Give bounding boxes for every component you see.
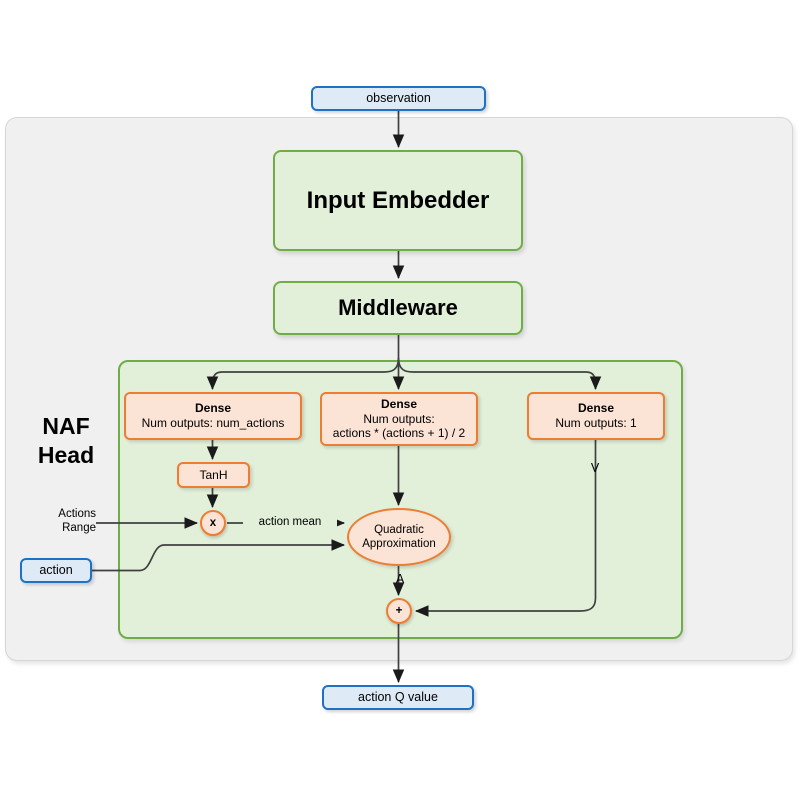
naf-head-title-line2: Head: [20, 441, 112, 470]
actions-range-label: Actions Range: [12, 507, 96, 536]
add-operator-node[interactable]: +: [386, 598, 412, 624]
dense-right-title: Dense: [555, 401, 636, 416]
multiply-operator-node[interactable]: x: [200, 510, 226, 536]
advantage-edge-label: A: [390, 572, 410, 588]
naf-head-title-line1: NAF: [20, 412, 112, 441]
input-embedder-node[interactable]: Input Embedder: [273, 150, 523, 251]
dense-mid-title: Dense: [333, 397, 465, 412]
quadratic-approximation-node[interactable]: Quadratic Approximation: [347, 508, 451, 566]
naf-head-title: NAF Head: [20, 412, 112, 470]
tanh-activation-node[interactable]: TanH: [177, 462, 250, 488]
dense-left-detail: Num outputs: num_actions: [142, 416, 285, 431]
quadratic-label-line1: Quadratic: [362, 523, 436, 537]
diagram-canvas: observation Input Embedder Middleware De…: [0, 0, 800, 800]
action-q-value-output-node[interactable]: action Q value: [322, 685, 474, 710]
actions-range-line2: Range: [12, 521, 96, 535]
dense-node-action-mean[interactable]: Dense Num outputs: num_actions: [124, 392, 302, 440]
dense-right-detail: Num outputs: 1: [555, 416, 636, 431]
dense-mid-detail-line1: Num outputs:: [333, 412, 465, 427]
actions-range-line1: Actions: [12, 507, 96, 521]
middleware-node[interactable]: Middleware: [273, 281, 523, 335]
dense-node-covariance[interactable]: Dense Num outputs: actions * (actions + …: [320, 392, 478, 446]
dense-left-title: Dense: [142, 401, 285, 416]
dense-mid-detail-line2: actions * (actions + 1) / 2: [333, 426, 465, 441]
action-mean-edge-label: action mean: [243, 515, 337, 529]
value-edge-label: V: [585, 461, 605, 477]
observation-node[interactable]: observation: [311, 86, 486, 111]
quadratic-label-line2: Approximation: [362, 537, 436, 551]
action-input-node[interactable]: action: [20, 558, 92, 583]
dense-node-state-value[interactable]: Dense Num outputs: 1: [527, 392, 665, 440]
